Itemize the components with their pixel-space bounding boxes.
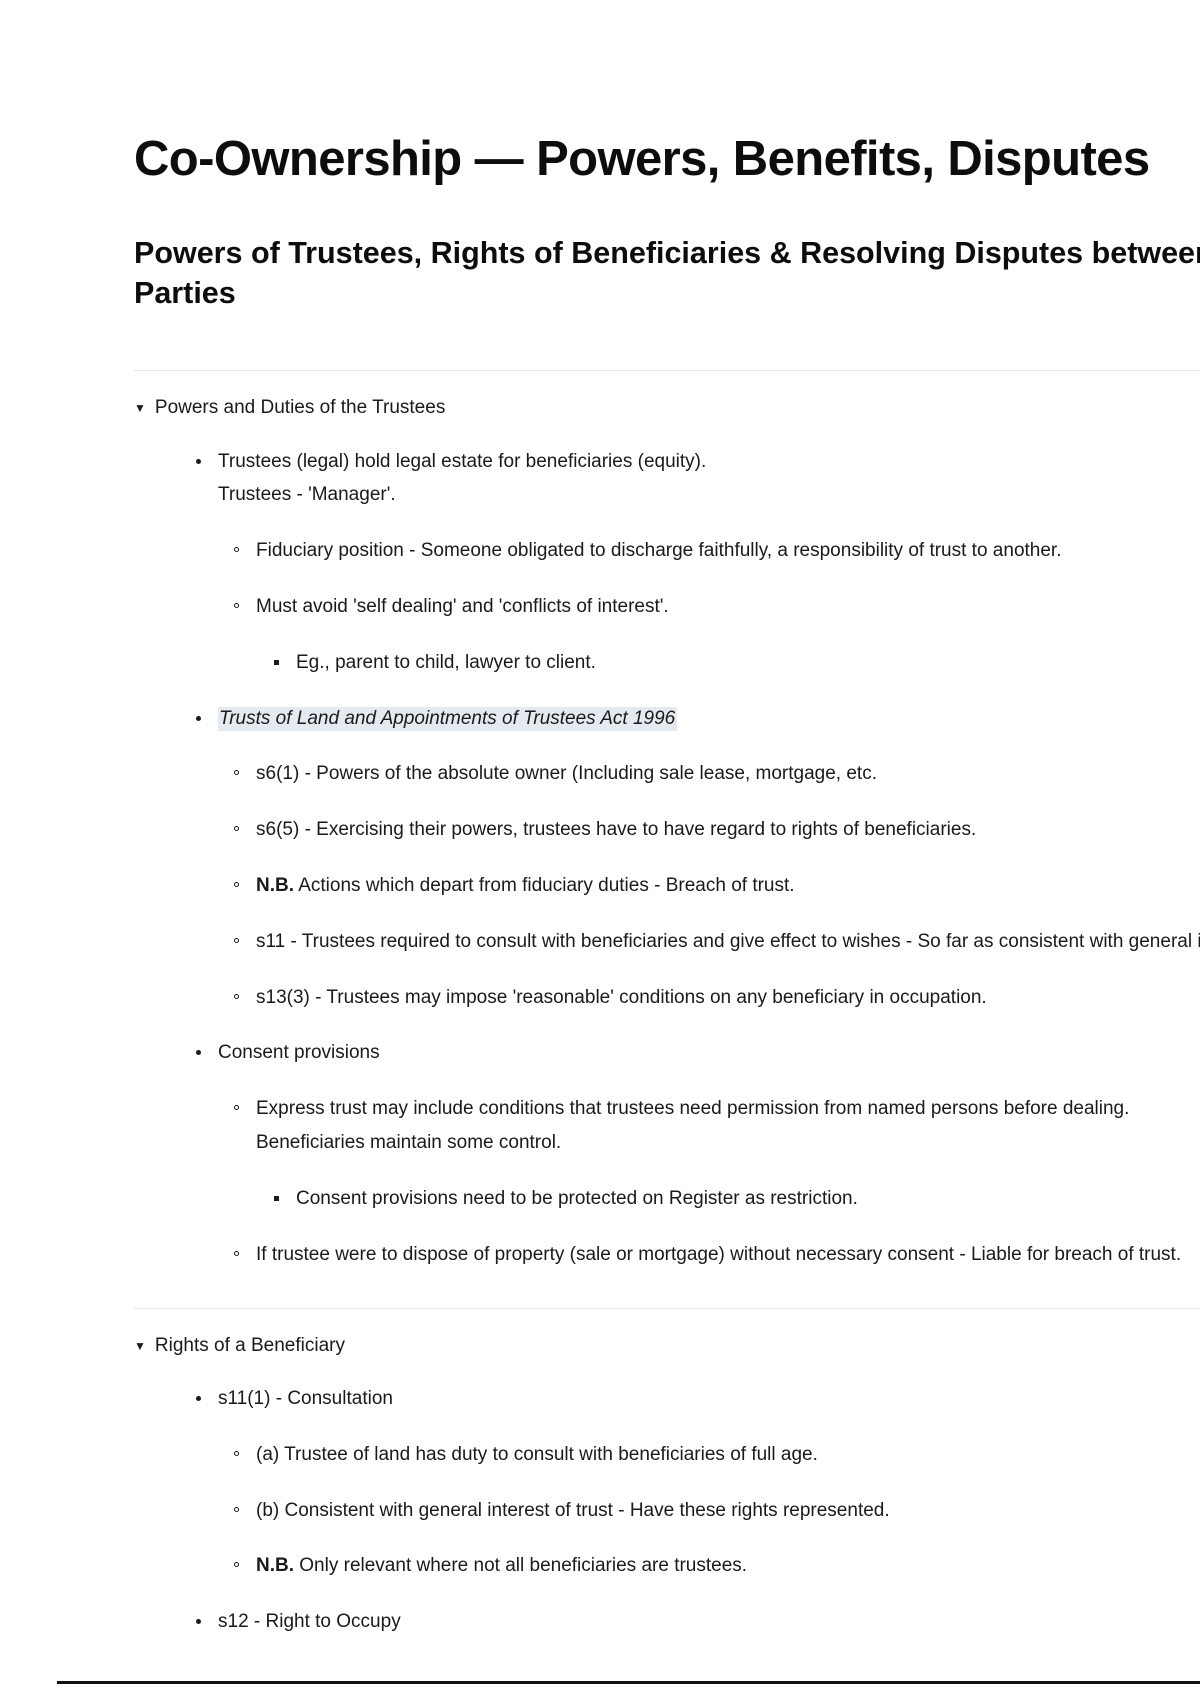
list-item-text: s13(3) - Trustees may impose 'reasonable… <box>230 981 1200 1015</box>
list-item-text: (b) Consistent with general interest of … <box>230 1494 1200 1528</box>
list-item: Express trust may include conditions tha… <box>230 1092 1200 1215</box>
list-item: Eg., parent to child, lawyer to client. <box>270 646 1200 680</box>
nb-label: N.B. <box>256 1555 294 1576</box>
list-item: s12 - Right to Occupy <box>192 1605 1200 1639</box>
section-rights-of-a-beneficiary: ▼ Rights of a Beneficiary s11(1) - Consu… <box>0 1332 1200 1640</box>
list-item: Consent provisions Express trust may inc… <box>192 1036 1200 1271</box>
nb-label: N.B. <box>256 875 294 896</box>
outline-level-1: Trustees (legal) hold legal estate for b… <box>134 445 1200 1272</box>
page-bottom-rule <box>57 1681 1200 1684</box>
list-item-text: N.B. Only relevant where not all benefic… <box>230 1549 1200 1583</box>
nb-body: Actions which depart from fiduciary duti… <box>294 875 795 896</box>
list-item: Trusts of Land and Appointments of Trust… <box>192 702 1200 1015</box>
list-item: N.B. Actions which depart from fiduciary… <box>230 869 1200 903</box>
list-item-text: s6(1) - Powers of the absolute owner (In… <box>230 757 1200 791</box>
list-item: (a) Trustee of land has duty to consult … <box>230 1438 1200 1472</box>
list-item: s11 - Trustees required to consult with … <box>230 925 1200 959</box>
list-item: s6(1) - Powers of the absolute owner (In… <box>230 757 1200 791</box>
list-item-text: s11(1) - Consultation <box>192 1382 1200 1416</box>
page-subtitle: Powers of Trustees, Rights of Beneficiar… <box>0 187 1200 314</box>
section-powers-and-duties: ▼ Powers and Duties of the Trustees Trus… <box>0 394 1200 1272</box>
list-item-text: Express trust may include conditions tha… <box>230 1092 1200 1160</box>
section-divider-top <box>134 370 1200 371</box>
list-item: If trustee were to dispose of property (… <box>230 1238 1200 1272</box>
list-item: Must avoid 'self dealing' and 'conflicts… <box>230 590 1200 680</box>
list-item: Trustees (legal) hold legal estate for b… <box>192 445 1200 680</box>
list-item-text: If trustee were to dispose of property (… <box>230 1238 1200 1272</box>
outline-level-1: s11(1) - Consultation (a) Trustee of lan… <box>134 1382 1200 1639</box>
list-item-text: Trustees (legal) hold legal estate for b… <box>192 445 1200 513</box>
list-item: Fiduciary position - Someone obligated t… <box>230 534 1200 568</box>
list-item-text: s11 - Trustees required to consult with … <box>230 925 1200 959</box>
highlighted-statute-text: Trusts of Land and Appointments of Trust… <box>218 707 677 731</box>
list-item-text: Must avoid 'self dealing' and 'conflicts… <box>230 590 1200 624</box>
list-item-text: Consent provisions need to be protected … <box>270 1182 1200 1216</box>
list-item: s6(5) - Exercising their powers, trustee… <box>230 813 1200 847</box>
section-header-powers-and-duties[interactable]: ▼ Powers and Duties of the Trustees <box>134 394 1200 423</box>
list-item-text-highlighted: Trusts of Land and Appointments of Trust… <box>192 702 1200 736</box>
outline-level-3: Eg., parent to child, lawyer to client. <box>230 646 1200 680</box>
list-item: (b) Consistent with general interest of … <box>230 1494 1200 1528</box>
list-item-text: Fiduciary position - Someone obligated t… <box>230 534 1200 568</box>
page-title: Co-Ownership — Powers, Benefits, Dispute… <box>0 0 1200 187</box>
chevron-down-icon[interactable]: ▼ <box>134 402 146 414</box>
list-item-text: N.B. Actions which depart from fiduciary… <box>230 869 1200 903</box>
outline-level-2: Express trust may include conditions tha… <box>192 1092 1200 1271</box>
list-item: s13(3) - Trustees may impose 'reasonable… <box>230 981 1200 1015</box>
nb-body: Only relevant where not all beneficiarie… <box>294 1555 747 1576</box>
chevron-down-icon[interactable]: ▼ <box>134 1340 146 1352</box>
section-title: Powers and Duties of the Trustees <box>155 394 445 423</box>
list-item: s11(1) - Consultation (a) Trustee of lan… <box>192 1382 1200 1583</box>
outline-level-3: Consent provisions need to be protected … <box>230 1182 1200 1216</box>
list-item: N.B. Only relevant where not all benefic… <box>230 1549 1200 1583</box>
outline-level-2: Fiduciary position - Someone obligated t… <box>192 534 1200 679</box>
section-header-rights-of-a-beneficiary[interactable]: ▼ Rights of a Beneficiary <box>134 1332 1200 1361</box>
section-title: Rights of a Beneficiary <box>155 1332 345 1361</box>
list-item-text: Consent provisions <box>192 1036 1200 1070</box>
list-item-text: (a) Trustee of land has duty to consult … <box>230 1438 1200 1472</box>
outline-level-2: (a) Trustee of land has duty to consult … <box>192 1438 1200 1583</box>
outline-level-2: s6(1) - Powers of the absolute owner (In… <box>192 757 1200 1014</box>
list-item-text: s6(5) - Exercising their powers, trustee… <box>230 813 1200 847</box>
list-item-text: Eg., parent to child, lawyer to client. <box>270 646 1200 680</box>
list-item: Consent provisions need to be protected … <box>270 1182 1200 1216</box>
document-page: Co-Ownership — Powers, Benefits, Dispute… <box>0 0 1200 1639</box>
section-divider-middle <box>134 1308 1200 1309</box>
list-item-text: s12 - Right to Occupy <box>192 1605 1200 1639</box>
